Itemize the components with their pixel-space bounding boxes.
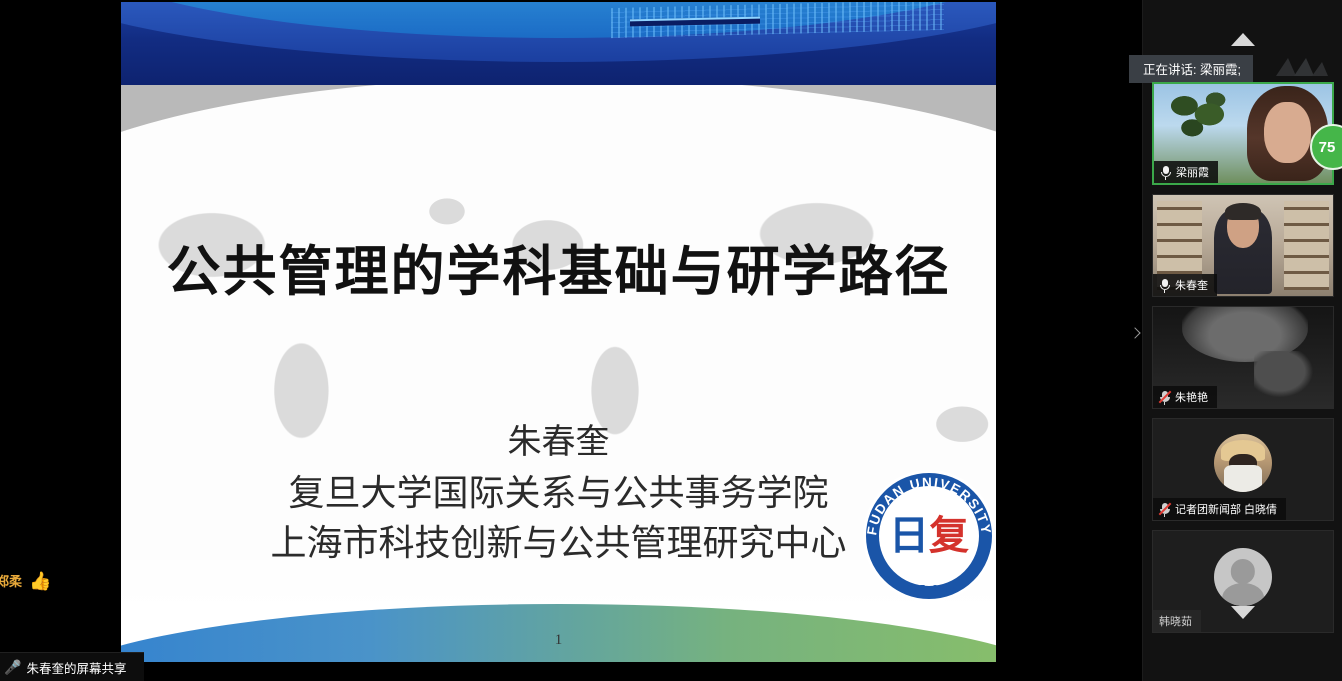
microphone-muted-icon xyxy=(1159,390,1170,405)
microphone-icon xyxy=(1159,278,1170,293)
scroll-up-arrow[interactable] xyxy=(1231,33,1255,46)
slide-page-number: 1 xyxy=(121,632,996,649)
screen-share-label: 朱春奎的屏幕共享 xyxy=(26,658,126,677)
participant-name-chip: 朱春奎 xyxy=(1153,274,1217,296)
video-bookshelf-right xyxy=(1284,201,1329,290)
video-hair xyxy=(1225,203,1261,220)
participant-name-chip: 记者团新闻部 白晓倩 xyxy=(1153,498,1286,520)
reaction-sender-name: 郑柔 xyxy=(0,571,22,590)
slide-presenter-name: 朱春奎 xyxy=(121,414,996,463)
slide-title: 公共管理的学科基础与研学路径 xyxy=(121,227,996,306)
shared-screen-stage[interactable]: 公共管理的学科基础与研学路径 朱春奎 复旦大学国际关系与公共事务学院 上海市科技… xyxy=(0,0,1142,681)
logo-year-range: 1905~2005 xyxy=(863,583,995,595)
thumbs-up-icon: 👍 xyxy=(29,572,51,590)
microphone-icon xyxy=(1160,165,1171,180)
participant-name-chip: 朱艳艳 xyxy=(1153,386,1217,408)
participant-name: 朱春奎 xyxy=(1175,277,1208,293)
slide-top-banner xyxy=(121,2,996,85)
screen-share-status-bar: 🎤 朱春奎的屏幕共享 xyxy=(0,652,144,681)
video-conference-window: 公共管理的学科基础与研学路径 朱春奎 复旦大学国际关系与公共事务学院 上海市科技… xyxy=(0,0,1342,681)
video-foliage xyxy=(1161,90,1239,151)
participant-name-chip: 梁丽霞 xyxy=(1154,161,1218,183)
logo-char-red: 复 xyxy=(929,512,969,559)
avatar-body xyxy=(1222,583,1264,606)
participant-tiles: 梁丽霞 朱春奎 xyxy=(1152,82,1334,642)
presentation-slide: 公共管理的学科基础与研学路径 朱春奎 复旦大学国际关系与公共事务学院 上海市科技… xyxy=(121,2,996,662)
avatar-head xyxy=(1231,559,1255,583)
chevron-right-icon[interactable] xyxy=(1128,327,1144,343)
logo-inner-disc: 日复 xyxy=(881,488,977,584)
participant-name: 韩晓茹 xyxy=(1159,613,1192,629)
participant-name-chip: 韩晓茹 xyxy=(1153,610,1201,632)
avatar xyxy=(1214,548,1272,606)
participant-filmstrip: 正在讲话: 梁丽霞; 梁丽霞 xyxy=(1142,0,1342,681)
participant-name: 梁丽霞 xyxy=(1176,164,1209,180)
fudan-university-logo: FUDAN UNIVERSITY 日复 1905~2005 xyxy=(863,470,995,602)
participant-tile[interactable]: 朱春奎 xyxy=(1152,194,1334,297)
video-face xyxy=(1264,102,1310,163)
scroll-down-arrow[interactable] xyxy=(1231,606,1255,619)
avatar-body xyxy=(1224,465,1261,493)
logo-char-blue: 日 xyxy=(889,512,929,559)
reaction-overlay: 郑柔 👍 xyxy=(0,568,59,593)
participant-name: 记者团新闻部 白晓倩 xyxy=(1175,501,1277,517)
active-speaker-banner: 正在讲话: 梁丽霞; xyxy=(1129,55,1253,83)
microphone-muted-icon xyxy=(1159,502,1170,517)
brand-watermark-icon xyxy=(1272,52,1328,80)
participant-name: 朱艳艳 xyxy=(1175,389,1208,405)
avatar xyxy=(1214,434,1272,492)
participant-tile[interactable]: 记者团新闻部 白晓倩 xyxy=(1152,418,1334,521)
logo-characters: 日复 xyxy=(889,516,969,556)
participant-tile[interactable]: 朱艳艳 xyxy=(1152,306,1334,409)
microphone-icon: 🎤 xyxy=(4,660,21,674)
video-highlight xyxy=(1254,351,1319,402)
participant-tile[interactable]: 梁丽霞 xyxy=(1152,82,1334,185)
